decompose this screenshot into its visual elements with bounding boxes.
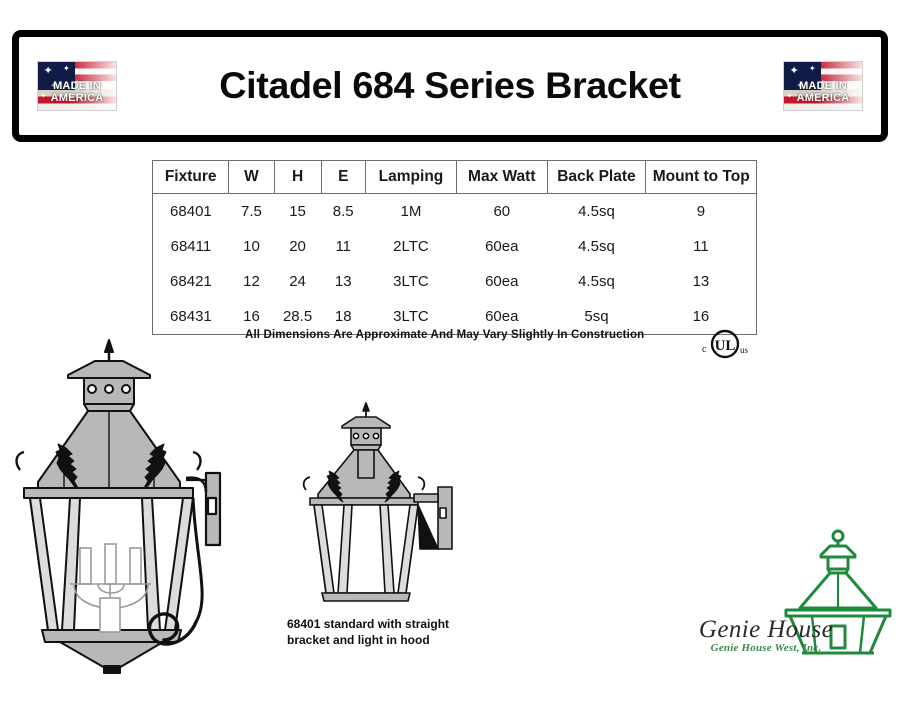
cell-fixture: 68401 <box>153 194 229 230</box>
culus-listed-mark: c UL us <box>700 328 752 360</box>
cell-w: 10 <box>229 229 274 264</box>
flag-star: ✦ <box>63 64 70 73</box>
cell-lamping: 3LTC <box>365 264 456 299</box>
center-figure-caption: 68401 standard with straight bracket and… <box>287 616 502 648</box>
title-banner: ✦ ✦ ✦ ✦ ✦ ✦ ✦ MADE IN AMERICA Citadel 68… <box>12 30 888 142</box>
culus-suffix: us <box>740 345 749 355</box>
cell-back-plate: 4.5sq <box>547 264 646 299</box>
made-in-america-badge-left: ✦ ✦ ✦ ✦ ✦ ✦ ✦ MADE IN AMERICA <box>37 61 117 111</box>
cell-h: 20 <box>274 229 321 264</box>
table-row: 68421 12 24 13 3LTC 60ea 4.5sq 13 <box>153 264 757 299</box>
column-header-lamping: Lamping <box>365 161 456 194</box>
column-header-back-plate: Back Plate <box>547 161 646 194</box>
badge-line-1: MADE IN <box>784 80 862 92</box>
logo-wordmark: Genie House <box>690 616 842 644</box>
made-in-america-badge-right: ✦ ✦ ✦ ✦ ✦ ✦ ✦ MADE IN AMERICA <box>783 61 863 111</box>
caption-line-2: bracket and light in hood <box>287 632 502 648</box>
figure-lantern-straight-bracket <box>290 395 480 610</box>
cell-mount-to-top: 11 <box>646 229 757 264</box>
cell-max-watt: 60 <box>457 194 548 230</box>
flag-star: ✦ <box>829 68 837 77</box>
cell-fixture: 68411 <box>153 229 229 264</box>
badge-line-2: AMERICA <box>784 92 862 104</box>
table-header-row: Fixture W H E Lamping Max Watt Back Plat… <box>153 161 757 194</box>
cell-fixture: 68421 <box>153 264 229 299</box>
flag-star: ✦ <box>789 67 798 76</box>
logo-subtitle: Genie House West, Inc. <box>690 642 842 654</box>
column-header-w: W <box>229 161 274 194</box>
flag-star: ✦ <box>43 67 52 76</box>
cell-mount-to-top: 13 <box>646 264 757 299</box>
culus-prefix: c <box>702 344 707 355</box>
badge-line-2: AMERICA <box>38 92 116 104</box>
page-title: Citadel 684 Series Bracket <box>110 65 789 107</box>
cell-max-watt: 60ea <box>457 229 548 264</box>
flag-star: ✦ <box>83 68 91 77</box>
cell-back-plate: 4.5sq <box>547 229 646 264</box>
flag-star: ✦ <box>809 64 816 73</box>
column-header-max-watt: Max Watt <box>457 161 548 194</box>
culus-mark-text: UL <box>715 338 736 354</box>
cell-h: 24 <box>274 264 321 299</box>
table-row: 68411 10 20 11 2LTC 60ea 4.5sq 11 <box>153 229 757 264</box>
cell-lamping: 1M <box>365 194 456 230</box>
caption-line-1: 68401 standard with straight <box>287 616 502 632</box>
column-header-mount-to-top: Mount to Top <box>646 161 757 194</box>
figure-lantern-scroll-bracket <box>0 330 250 675</box>
cell-e: 8.5 <box>321 194 365 230</box>
dimensions-disclaimer: All Dimensions Are Approximate And May V… <box>245 329 644 341</box>
cell-max-watt: 60ea <box>457 264 548 299</box>
badge-text: MADE IN AMERICA <box>784 80 862 104</box>
cell-mount-to-top: 9 <box>646 194 757 230</box>
cell-back-plate: 4.5sq <box>547 194 646 230</box>
column-header-fixture: Fixture <box>153 161 229 194</box>
product-spec-sheet: ✦ ✦ ✦ ✦ ✦ ✦ ✦ MADE IN AMERICA Citadel 68… <box>0 0 904 720</box>
table-row: 68401 7.5 15 8.5 1M 60 4.5sq 9 <box>153 194 757 230</box>
cell-h: 15 <box>274 194 321 230</box>
cell-e: 13 <box>321 264 365 299</box>
cell-w: 7.5 <box>229 194 274 230</box>
column-header-h: H <box>274 161 321 194</box>
badge-text: MADE IN AMERICA <box>38 80 116 104</box>
badge-line-1: MADE IN <box>38 80 116 92</box>
column-header-e: E <box>321 161 365 194</box>
cell-w: 12 <box>229 264 274 299</box>
specification-table: Fixture W H E Lamping Max Watt Back Plat… <box>152 160 757 335</box>
cell-e: 11 <box>321 229 365 264</box>
genie-house-logo: Genie House Genie House West, Inc. <box>690 528 895 658</box>
cell-lamping: 2LTC <box>365 229 456 264</box>
